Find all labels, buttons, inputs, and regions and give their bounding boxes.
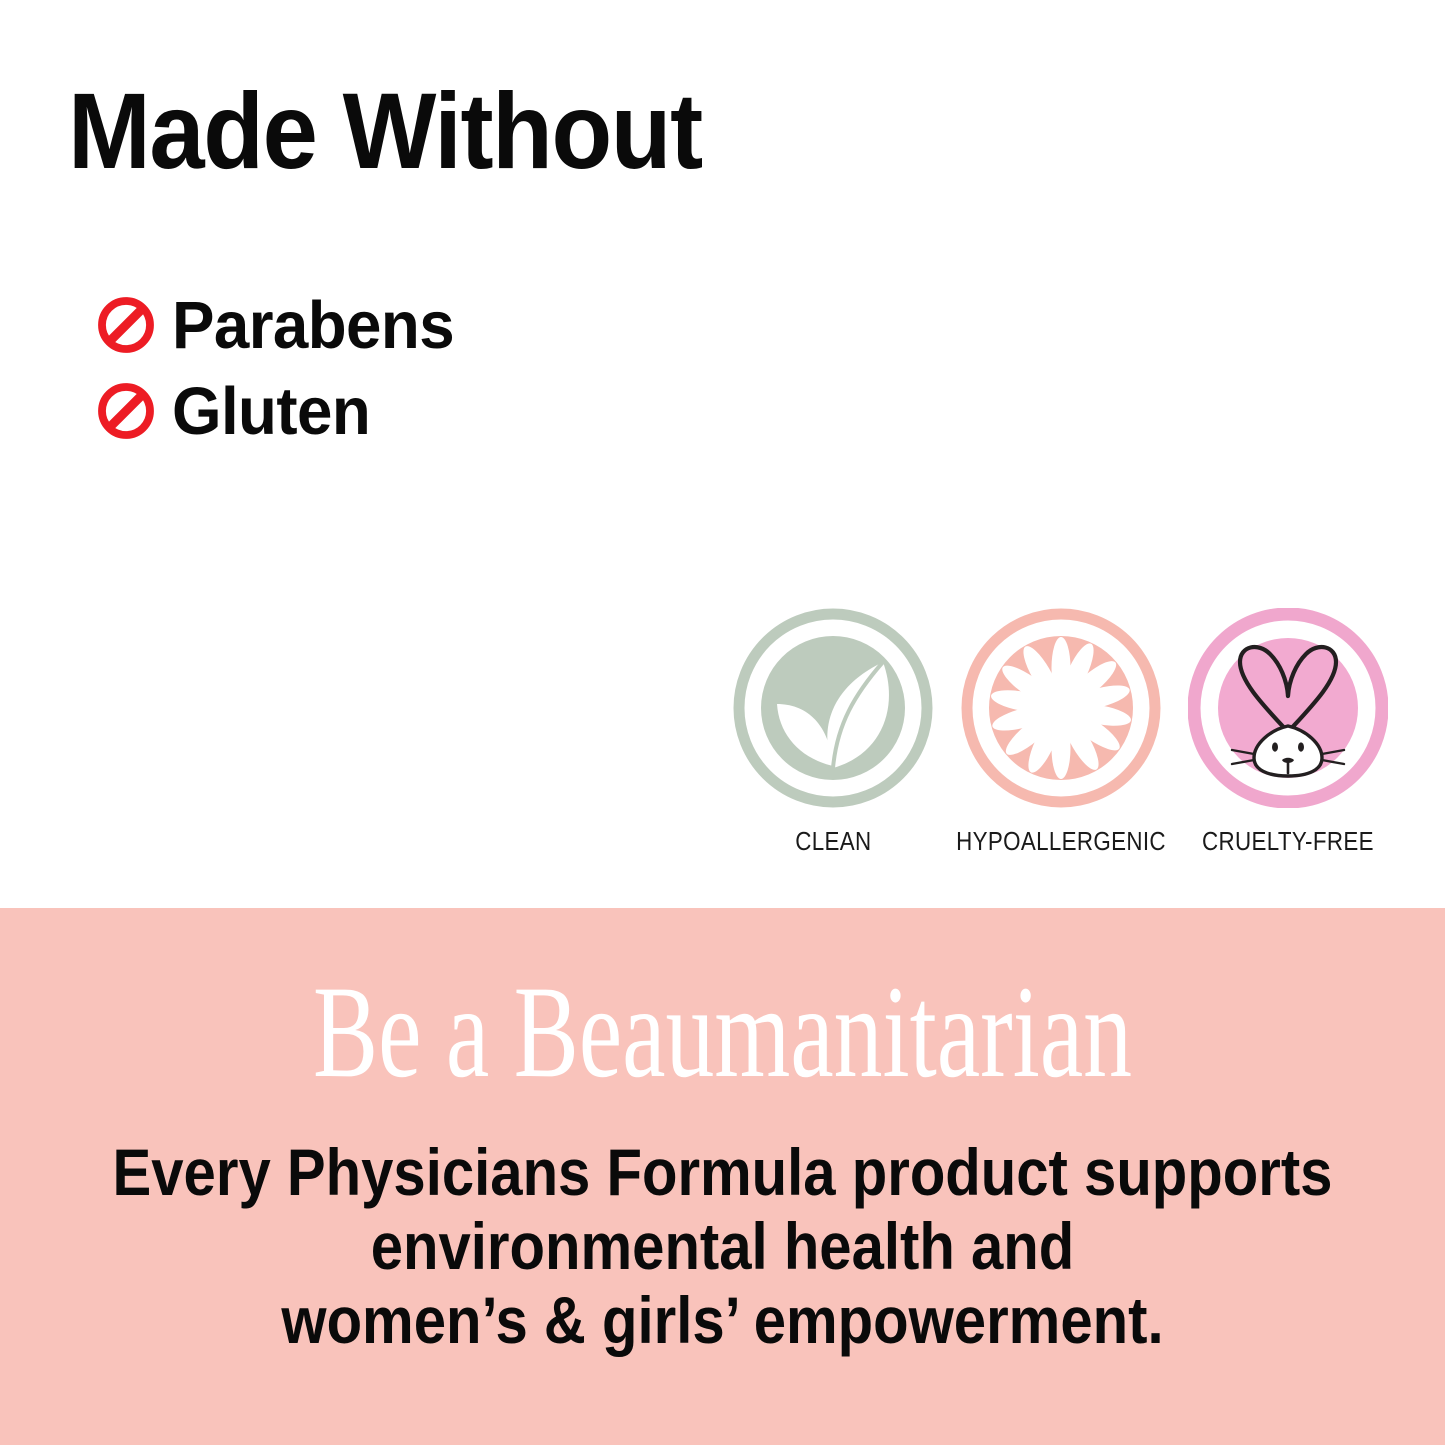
exclusion-item-gluten: Gluten (96, 368, 796, 454)
infographic-page: Made Without Parabens G (0, 0, 1445, 1445)
banner-title: Be a Beaumanitarian (188, 966, 1257, 1098)
exclusion-item-label: Gluten (172, 378, 370, 445)
exclusion-list: Parabens Gluten (96, 282, 796, 454)
made-without-section: Made Without Parabens G (0, 0, 1445, 908)
page-title: Made Without (68, 74, 702, 188)
banner-body-line: women’s & girls’ empowerment. (87, 1284, 1359, 1358)
badge-label-cruelty-free: CRUELTY-FREE (1202, 826, 1374, 857)
leaves-icon (733, 608, 933, 808)
beaumanitarian-banner: Be a Beaumanitarian Every Physicians For… (0, 908, 1445, 1445)
badge-cruelty-free: CRUELTY-FREE (1188, 608, 1388, 857)
prohibition-icon (96, 295, 156, 355)
badge-clean: CLEAN (733, 608, 933, 857)
banner-body-line: Every Physicians Formula product support… (87, 1136, 1359, 1210)
prohibition-icon (96, 381, 156, 441)
bunny-heart-ears-icon (1188, 608, 1388, 808)
banner-body-line: environmental health and (87, 1210, 1359, 1284)
badge-label-hypoallergenic: HYPOALLERGENIC (956, 826, 1166, 857)
flower-icon (961, 608, 1161, 808)
badge-label-clean: CLEAN (795, 826, 871, 857)
banner-body: Every Physicians Formula product support… (0, 1136, 1445, 1358)
certification-badges: CLEAN (733, 608, 1388, 857)
exclusion-item-label: Parabens (172, 292, 454, 359)
exclusion-item-parabens: Parabens (96, 282, 796, 368)
badge-hypoallergenic: HYPOALLERGENIC (961, 608, 1161, 857)
